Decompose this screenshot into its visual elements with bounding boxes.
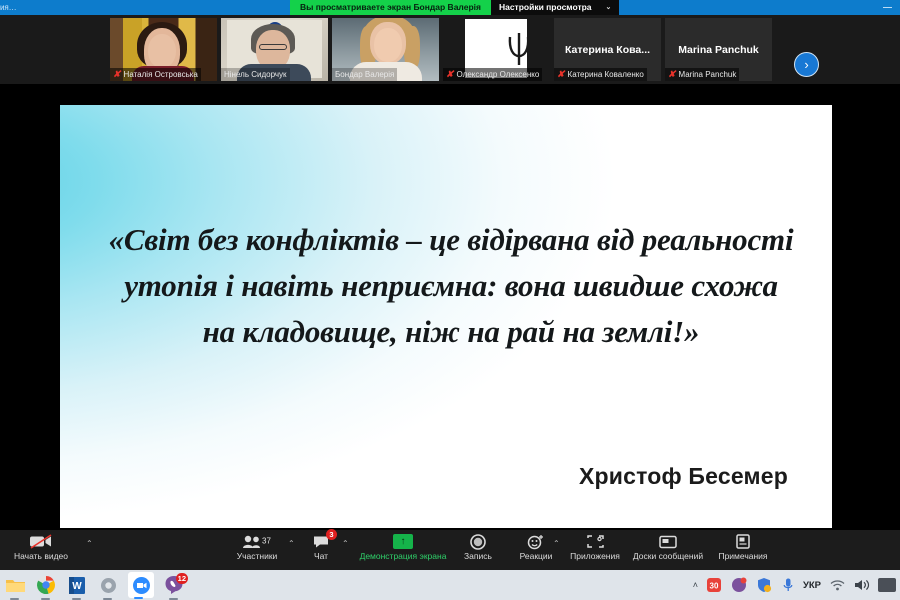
share-screen-button[interactable]: ↑ Демонстрация экрана: [358, 532, 448, 568]
mic-muted-icon: ✘: [113, 70, 121, 79]
participant-name: Нінель Сидорчук: [224, 70, 287, 79]
taskbar-app-icons: W: [0, 572, 185, 598]
start-video-button[interactable]: Начать видео: [6, 532, 76, 568]
wifi-icon[interactable]: [829, 577, 845, 593]
participant-name-bar: Нінель Сидорчук: [221, 68, 290, 81]
viber-unread-badge: 12: [176, 573, 188, 584]
apps-icon: [587, 532, 604, 551]
view-options-label: Настройки просмотра: [499, 0, 592, 15]
participants-button[interactable]: 37 Участники: [226, 532, 288, 568]
svg-text:W: W: [72, 581, 82, 592]
language-indicator[interactable]: УКР: [803, 580, 821, 591]
participant-thumbnail[interactable]: ✘ Наталія Островська: [110, 18, 217, 81]
whiteboards-label: Доски сообщений: [633, 551, 703, 561]
participant-name: Наталія Островська: [124, 70, 198, 79]
shared-screen-stage: «Світ без конфліктів – це відірвана від …: [55, 84, 835, 530]
participant-thumbnail-active-speaker[interactable]: Бондар Валерія: [332, 18, 439, 81]
chrome-icon[interactable]: [35, 574, 57, 596]
whiteboards-button[interactable]: Доски сообщений: [628, 532, 708, 568]
chat-button[interactable]: 3 Чат: [302, 532, 340, 568]
record-button[interactable]: Запись: [455, 532, 501, 568]
record-icon: [470, 532, 486, 551]
reactions-label: Реакции: [520, 551, 553, 561]
notes-button[interactable]: Примечания: [712, 532, 774, 568]
apps-label: Приложения: [570, 551, 620, 561]
video-options-caret[interactable]: ⌃: [86, 539, 93, 548]
volume-icon[interactable]: [853, 577, 870, 593]
chat-label: Чат: [314, 551, 328, 561]
reactions-button[interactable]: Реакции: [512, 532, 560, 568]
participant-name: Бондар Валерія: [335, 70, 394, 79]
notes-label: Примечания: [718, 551, 767, 561]
microphone-icon[interactable]: [781, 577, 795, 594]
participant-thumbnail[interactable]: ✘ Олександр Олексенко: [443, 18, 550, 81]
mic-muted-icon: ✘: [557, 70, 565, 79]
reactions-caret[interactable]: ⌃: [553, 539, 560, 548]
participant-filmstrip: ✘ Наталія Островська Нінель Сидорчук: [0, 15, 900, 84]
video-off-icon: [29, 532, 53, 551]
participant-name-bar: ✘ Marina Panchuk: [665, 68, 739, 81]
mic-muted-icon: ✘: [668, 70, 676, 79]
file-explorer-icon[interactable]: [4, 574, 26, 596]
presentation-slide: «Світ без конфліктів – це відірвана від …: [60, 105, 832, 528]
reactions-icon: [527, 532, 545, 551]
participant-thumbnail[interactable]: Нінель Сидорчук: [221, 18, 328, 81]
slide-author-attribution: Христоф Бесемер: [579, 463, 788, 490]
topbar-left-text: …ия: [0, 3, 290, 12]
viber-icon[interactable]: 12: [163, 574, 185, 596]
viber-tray-icon[interactable]: [731, 577, 748, 594]
view-options-button[interactable]: Настройки просмотра ⌄: [491, 0, 619, 15]
system-tray: ˄ 30: [693, 570, 896, 600]
calendar-icon[interactable]: 30: [706, 577, 723, 594]
battery-icon[interactable]: [878, 578, 896, 592]
mic-muted-icon: ✘: [446, 70, 454, 79]
tray-expand-icon[interactable]: ˄: [693, 580, 698, 590]
windows-taskbar: W: [0, 570, 900, 600]
participant-name-bar: ✘ Катерина Коваленко: [554, 68, 647, 81]
svg-text:30: 30: [710, 582, 719, 591]
participants-caret[interactable]: ⌃: [288, 539, 295, 548]
share-notice-pill: Вы просматриваете экран Бондар Валерія: [290, 0, 491, 15]
share-screen-icon: ↑: [393, 532, 413, 551]
chat-unread-badge: 3: [326, 529, 337, 540]
participant-name-bar: ✘ Наталія Островська: [110, 68, 201, 81]
zoom-meeting-window: …ия Вы просматриваете экран Бондар Валер…: [0, 0, 900, 600]
filmstrip-next-button[interactable]: ›: [794, 52, 819, 77]
participant-name-bar: Бондар Валерія: [332, 68, 397, 81]
participant-name: Катерина Коваленко: [568, 70, 644, 79]
psi-logo-icon: [503, 31, 535, 67]
zoom-control-toolbar: Начать видео ⌃ 37 Участники ⌃ 3: [0, 530, 900, 570]
participant-name-bar: ✘ Олександр Олексенко: [443, 68, 542, 81]
participant-name: Олександр Олексенко: [457, 70, 540, 79]
participant-name: Marina Panchuk: [679, 70, 737, 79]
notes-icon: [736, 532, 750, 551]
record-label: Запись: [464, 551, 492, 561]
participants-icon: 37: [242, 532, 272, 551]
participant-thumbnail[interactable]: Катерина Кова... ✘ Катерина Коваленко: [554, 18, 661, 81]
zoom-icon[interactable]: [128, 572, 154, 598]
screen-share-topbar: …ия Вы просматриваете экран Бондар Валер…: [0, 0, 900, 15]
whiteboard-icon: [659, 532, 677, 551]
chat-icon: 3: [313, 532, 329, 551]
apps-button[interactable]: Приложения: [568, 532, 622, 568]
security-icon[interactable]: [756, 577, 773, 594]
start-video-label: Начать видео: [14, 551, 68, 561]
settings-icon[interactable]: [97, 574, 119, 596]
slide-quote-text: «Світ без конфліктів – це відірвана від …: [106, 217, 796, 355]
participant-thumbnail[interactable]: Marina Panchuk ✘ Marina Panchuk: [665, 18, 772, 81]
share-screen-label: Демонстрация экрана: [360, 551, 447, 561]
chat-caret[interactable]: ⌃: [342, 539, 349, 548]
minimize-icon[interactable]: [883, 7, 892, 8]
thumbnail-list: ✘ Наталія Островська Нінель Сидорчук: [110, 18, 772, 81]
chevron-right-icon: ›: [804, 57, 808, 72]
participants-label: Участники: [237, 551, 278, 561]
svg-text:37: 37: [262, 536, 271, 545]
chevron-down-icon: ⌄: [606, 0, 612, 15]
word-icon[interactable]: W: [66, 574, 88, 596]
